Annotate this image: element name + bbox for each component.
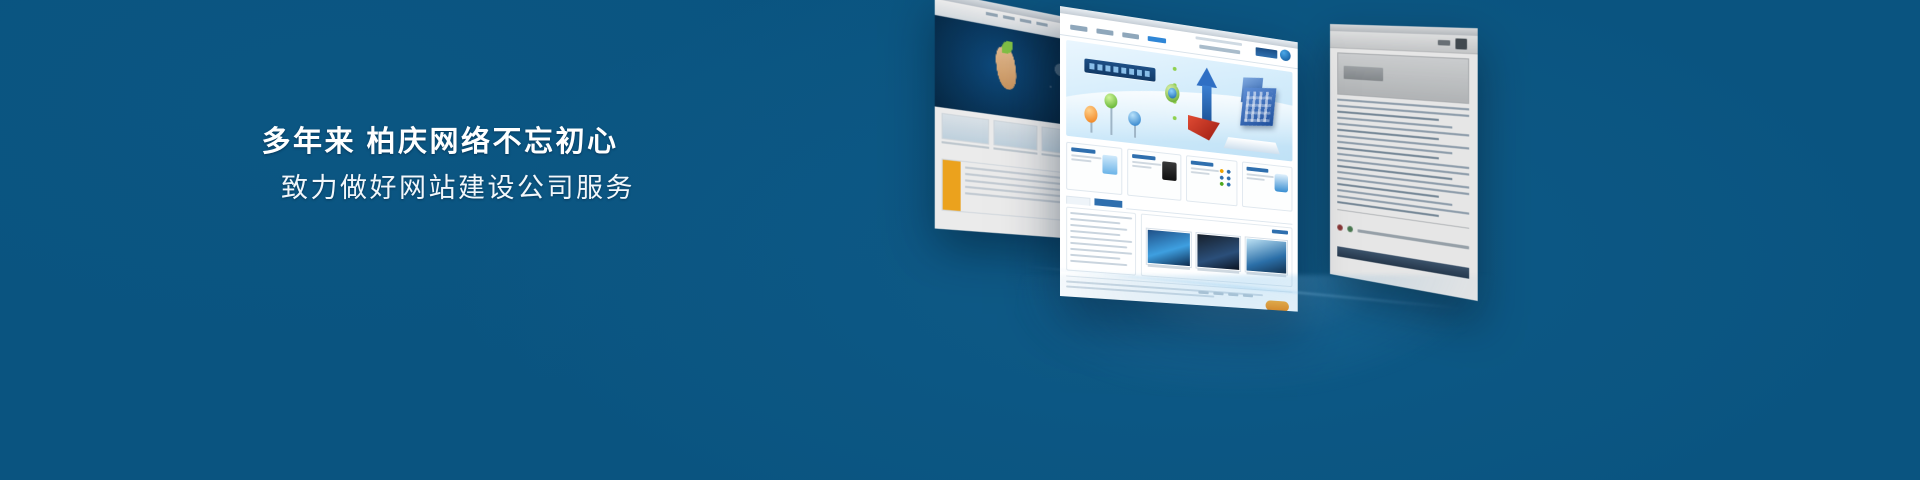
case-thumb-2[interactable] xyxy=(1196,232,1241,272)
news-item[interactable] xyxy=(1070,230,1120,236)
feature-card-4[interactable] xyxy=(1242,161,1292,211)
news-list-panel xyxy=(1066,207,1136,276)
header-slogan xyxy=(1199,45,1240,55)
card-title xyxy=(1190,160,1213,166)
center-screen-nav xyxy=(1070,25,1166,44)
hand-plant-graphic xyxy=(994,47,1019,90)
right-screen-topbar xyxy=(1330,31,1478,54)
card-line xyxy=(1132,165,1151,169)
printer-icon[interactable] xyxy=(1455,38,1467,49)
news-item[interactable] xyxy=(1070,242,1127,249)
card-title xyxy=(1247,167,1269,173)
toolbar-icon[interactable] xyxy=(1438,40,1450,46)
nav-item[interactable] xyxy=(1003,15,1015,20)
feature-card-1[interactable] xyxy=(1066,142,1122,195)
nav-item[interactable] xyxy=(1020,18,1031,23)
feature-card-2[interactable] xyxy=(1127,149,1181,201)
grid-cell[interactable] xyxy=(993,120,1038,155)
logo-wordmark xyxy=(1256,47,1278,59)
screenshot-stage xyxy=(1000,0,1480,360)
grid-dots-icon xyxy=(1219,167,1233,187)
back-right-website-screen[interactable] xyxy=(1330,24,1478,301)
footer-link[interactable] xyxy=(1198,291,1208,295)
logo-mark-icon xyxy=(1280,49,1291,62)
footer-link[interactable] xyxy=(1213,292,1223,296)
front-center-website-screen[interactable] xyxy=(1060,6,1298,312)
badge-tag xyxy=(943,160,961,211)
hero-banner: 多年来 柏庆网络不忘初心 致力做好网站建设公司服务 xyxy=(0,0,1920,480)
nav-item-1[interactable] xyxy=(1070,25,1087,32)
tab-active[interactable] xyxy=(1094,198,1122,208)
dot-icon xyxy=(1173,116,1177,120)
case-thumb-row xyxy=(1146,228,1288,276)
footer-bar xyxy=(1358,229,1470,249)
headline-line-1: 多年来 柏庆网络不忘初心 xyxy=(0,128,880,157)
card-line xyxy=(1247,177,1265,181)
cube-front-graphic xyxy=(1240,88,1276,126)
status-dot-green xyxy=(1347,226,1353,233)
card-line xyxy=(1190,171,1209,175)
tab-inactive[interactable] xyxy=(1066,195,1090,205)
pole-decoration xyxy=(1110,107,1112,135)
nav-item-4-active[interactable] xyxy=(1148,36,1166,44)
footer-link[interactable] xyxy=(1228,293,1238,297)
status-dot-red xyxy=(1337,224,1342,231)
document-icon xyxy=(1102,155,1117,175)
headline-line-2: 致力做好网站建设公司服务 xyxy=(36,175,880,202)
phone-icon xyxy=(1162,161,1176,181)
card-title xyxy=(1132,154,1155,160)
site-logo[interactable] xyxy=(1256,45,1291,61)
orb-icon xyxy=(1165,83,1179,103)
news-item[interactable] xyxy=(1070,260,1127,266)
arrow-up-stem xyxy=(1202,85,1211,124)
case-thumb-1[interactable] xyxy=(1146,228,1192,269)
sphere-blue-icon xyxy=(1128,110,1141,126)
right-screen-banner xyxy=(1337,52,1469,104)
right-screen-text-list xyxy=(1330,98,1478,222)
nav-item[interactable] xyxy=(986,12,998,17)
footer-cta-button[interactable] xyxy=(1266,300,1289,311)
grid-cell[interactable] xyxy=(942,113,989,149)
case-thumb-3[interactable] xyxy=(1244,236,1288,275)
nav-item-2[interactable] xyxy=(1096,28,1113,35)
more-link[interactable] xyxy=(1272,229,1288,234)
card-title xyxy=(1071,147,1095,154)
nav-item[interactable] xyxy=(1036,22,1047,27)
nav-item-3[interactable] xyxy=(1122,32,1139,39)
dot-icon xyxy=(1173,67,1177,71)
case-showcase-panel xyxy=(1141,214,1293,288)
news-item[interactable] xyxy=(1070,218,1120,224)
leaf-icon xyxy=(1002,40,1013,54)
footer-link[interactable] xyxy=(1243,294,1253,298)
sphere-orange-icon xyxy=(1084,105,1097,123)
banner-wordmark xyxy=(1344,66,1383,82)
monitor-icon xyxy=(1275,173,1288,192)
card-line xyxy=(1071,158,1091,162)
news-item[interactable] xyxy=(1070,254,1120,260)
feature-card-3[interactable] xyxy=(1186,155,1238,206)
pole-decoration xyxy=(1134,125,1136,138)
hero-title-plate xyxy=(1084,58,1155,81)
headline-block: 多年来 柏庆网络不忘初心 致力做好网站建设公司服务 xyxy=(0,128,880,202)
